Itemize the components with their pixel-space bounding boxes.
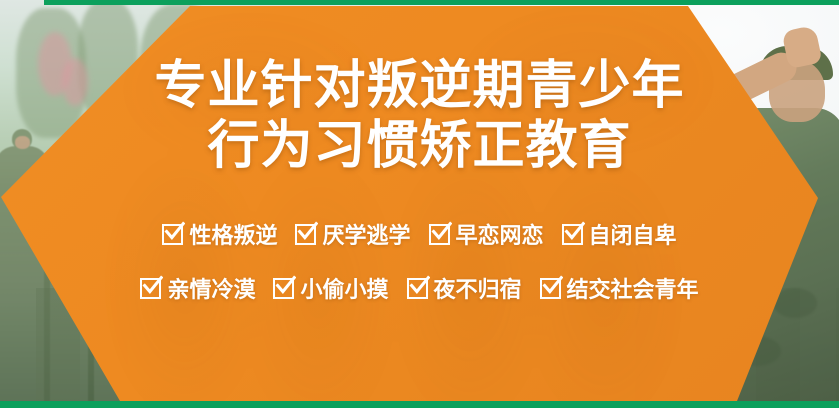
tag-label: 性格叛逆: [189, 218, 277, 250]
tag-label: 厌学逃学: [322, 218, 410, 250]
tag-item[interactable]: 早恋网恋: [429, 218, 544, 250]
tag-item[interactable]: 自闭自卑: [562, 218, 677, 250]
tag-label: 早恋网恋: [456, 218, 544, 250]
tag-label: 亲情冷漠: [167, 272, 255, 304]
check-icon: [140, 278, 161, 299]
tag-item[interactable]: 性格叛逆: [162, 218, 277, 250]
tag-label: 夜不归宿: [434, 272, 522, 304]
check-icon: [429, 224, 450, 245]
tag-label: 自闭自卑: [589, 218, 677, 250]
tag-row-1: 性格叛逆 厌学逃学 早恋网恋: [162, 218, 676, 250]
promo-banner: 专业针对叛逆期青少年 行为习惯矫正教育 性格叛逆 厌学逃学: [0, 0, 839, 408]
check-icon: [295, 224, 316, 245]
tag-item[interactable]: 厌学逃学: [295, 218, 410, 250]
check-icon: [540, 278, 561, 299]
headline-line-1: 专业针对叛逆期青少年: [154, 58, 684, 114]
tag-item[interactable]: 小偷小摸: [273, 272, 388, 304]
tag-list: 性格叛逆 厌学逃学 早恋网恋: [0, 218, 839, 304]
check-icon: [162, 224, 183, 245]
tag-item[interactable]: 亲情冷漠: [140, 272, 255, 304]
tag-label: 小偷小摸: [300, 272, 388, 304]
tag-item[interactable]: 结交社会青年: [540, 272, 699, 304]
tag-row-2: 亲情冷漠 小偷小摸 夜不归宿: [140, 272, 698, 304]
banner-content: 专业针对叛逆期青少年 行为习惯矫正教育 性格叛逆 厌学逃学: [0, 0, 839, 408]
headline-line-2: 行为习惯矫正教育: [207, 118, 631, 174]
tag-item[interactable]: 夜不归宿: [407, 272, 522, 304]
tag-label: 结交社会青年: [567, 272, 699, 304]
check-icon: [562, 224, 583, 245]
check-icon: [273, 278, 294, 299]
check-icon: [407, 278, 428, 299]
